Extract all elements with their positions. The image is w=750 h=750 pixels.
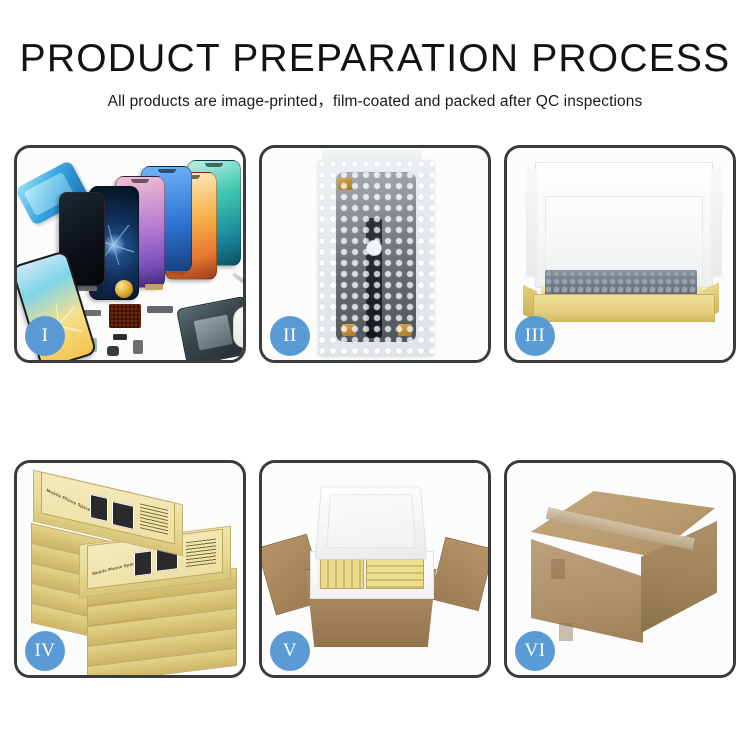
page-title: PRODUCT PREPARATION PROCESS	[0, 36, 750, 82]
step-badge-6: VI	[515, 631, 555, 671]
product-preparation-page: PRODUCT PREPARATION PROCESS All products…	[0, 0, 750, 750]
step-panel-6: VI	[504, 460, 736, 678]
part-bracket-icon	[147, 306, 173, 313]
step-badge-3: III	[515, 316, 555, 356]
carton-seam-upper-icon	[551, 559, 565, 579]
step-panel-4: Mobile Phone Spare Parts Mobile Phone Sp…	[14, 460, 246, 678]
gold-component-icon	[115, 280, 133, 298]
label-checklist-front	[186, 539, 216, 569]
carton-face-left-icon	[531, 539, 643, 643]
label-phone-image-1	[134, 550, 152, 576]
connector-tape-top-icon	[338, 178, 352, 190]
step-panel-1: I	[14, 145, 246, 363]
part-speaker-icon	[107, 346, 119, 356]
step-panel-2: II	[259, 145, 491, 363]
tweezers-icon	[232, 272, 246, 300]
circuit-board-icon	[109, 304, 141, 328]
spare-parts-group	[73, 276, 246, 363]
part-chip-icon	[113, 334, 127, 340]
page-subtitle: All products are image-printed，film-coat…	[0, 89, 750, 111]
connector-tape-left-icon	[342, 324, 356, 336]
step-badge-2: II	[270, 316, 310, 356]
label-checklist-back	[140, 503, 168, 535]
label-phone-image-3	[90, 494, 108, 522]
step-panel-5: V	[259, 460, 491, 678]
foam-lid-icon	[315, 486, 428, 559]
box-stack-group: Mobile Phone Spare Parts Mobile Phone Sp…	[31, 481, 237, 667]
yellow-boxes-right-icon	[366, 559, 424, 589]
notch-icon	[158, 169, 176, 173]
carton-flap-right-icon	[430, 537, 491, 611]
carton-seam-lower-icon	[559, 623, 573, 641]
notch-icon	[205, 163, 223, 167]
notch-icon	[131, 179, 149, 183]
flex-cable-icon	[366, 218, 382, 338]
part-module-icon	[133, 340, 143, 354]
label-phone-image-4	[112, 501, 134, 530]
step-panel-3: III	[504, 145, 736, 363]
hand-icon	[233, 306, 246, 348]
step-badge-4: IV	[25, 631, 65, 671]
yellow-boxes-left-icon	[320, 559, 364, 589]
process-steps-grid: I II	[14, 145, 736, 678]
connector-tape-right-icon	[398, 324, 412, 336]
foam-sheet-icon	[545, 196, 703, 280]
box-front-panel-icon	[533, 294, 715, 322]
step-badge-1: I	[25, 316, 65, 356]
battery-pack-icon	[194, 315, 233, 351]
camera-module-icon	[366, 240, 382, 256]
part-connector-icon	[145, 284, 163, 290]
page-header: PRODUCT PREPARATION PROCESS All products…	[0, 36, 750, 111]
step-badge-5: V	[270, 631, 310, 671]
